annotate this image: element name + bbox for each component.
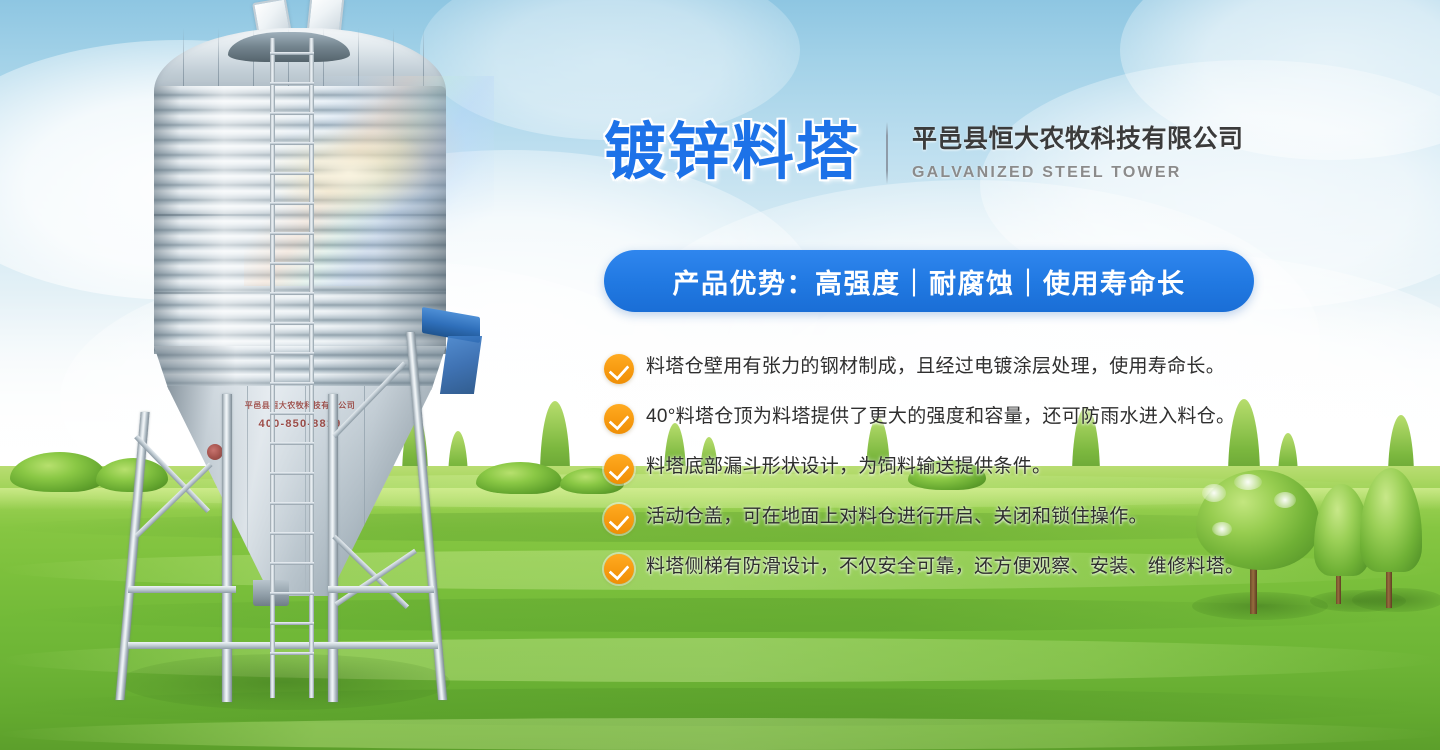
advantage-banner: 产品优势：高强度｜耐腐蚀｜使用寿命长 — [604, 250, 1254, 312]
check-circle-icon — [604, 354, 634, 384]
feature-text: 活动仓盖，可在地面上对料仓进行开启、关闭和锁住操作。 — [646, 502, 1148, 531]
check-circle-icon — [604, 404, 634, 434]
feature-item: 40°料塔仓顶为料塔提供了更大的强度和容量，还可防雨水进入料仓。 — [604, 402, 1434, 452]
silo-ladder — [270, 38, 314, 698]
feature-text: 料塔底部漏斗形状设计，为饲料输送提供条件。 — [646, 452, 1051, 481]
feature-text: 料塔侧梯有防滑设计，不仅安全可靠，还方便观察、安装、维修料塔。 — [646, 552, 1244, 581]
hero-banner: 平邑县恒大农牧科技有限公司 400-850-8819 — [0, 0, 1440, 750]
feature-item: 料塔底部漏斗形状设计，为饲料输送提供条件。 — [604, 452, 1434, 502]
title-row: 镀锌料塔 平邑县恒大农牧科技有限公司 GALVANIZED STEEL TOWE… — [604, 122, 1244, 184]
hero-content: 镀锌料塔 平邑县恒大农牧科技有限公司 GALVANIZED STEEL TOWE… — [600, 0, 1440, 750]
feature-item: 活动仓盖，可在地面上对料仓进行开启、关闭和锁住操作。 — [604, 502, 1434, 552]
feature-text: 料塔仓壁用有张力的钢材制成，且经过电镀涂层处理，使用寿命长。 — [646, 352, 1225, 381]
company-name: 平邑县恒大农牧科技有限公司 — [912, 124, 1244, 155]
silo-leg — [115, 412, 149, 700]
feature-text: 40°料塔仓顶为料塔提供了更大的强度和容量，还可防雨水进入料仓。 — [646, 402, 1235, 431]
company-subtitle: GALVANIZED STEEL TOWER — [912, 164, 1244, 182]
title-divider — [886, 122, 888, 184]
check-circle-icon — [604, 554, 634, 584]
feature-list: 料塔仓壁用有张力的钢材制成，且经过电镀涂层处理，使用寿命长。 40°料塔仓顶为料… — [604, 352, 1434, 602]
galvanized-silo-image: 平邑县恒大农牧科技有限公司 400-850-8819 — [92, 0, 512, 734]
silo-leg — [328, 394, 338, 702]
feature-item: 料塔侧梯有防滑设计，不仅安全可靠，还方便观察、安装、维修料塔。 — [604, 552, 1434, 602]
check-circle-icon — [604, 454, 634, 484]
silo-leg — [222, 394, 232, 702]
company-block: 平邑县恒大农牧科技有限公司 GALVANIZED STEEL TOWER — [912, 124, 1244, 181]
page-title: 镀锌料塔 — [604, 122, 860, 184]
check-circle-icon — [604, 504, 634, 534]
silo-valve — [207, 444, 223, 460]
silo-crossbar — [328, 586, 434, 593]
silo-crossbar — [128, 586, 236, 593]
advantage-banner-text: 产品优势：高强度｜耐腐蚀｜使用寿命长 — [673, 262, 1186, 301]
silo-discharge-pipe — [440, 336, 482, 394]
feature-item: 料塔仓壁用有张力的钢材制成，且经过电镀涂层处理，使用寿命长。 — [604, 352, 1434, 402]
